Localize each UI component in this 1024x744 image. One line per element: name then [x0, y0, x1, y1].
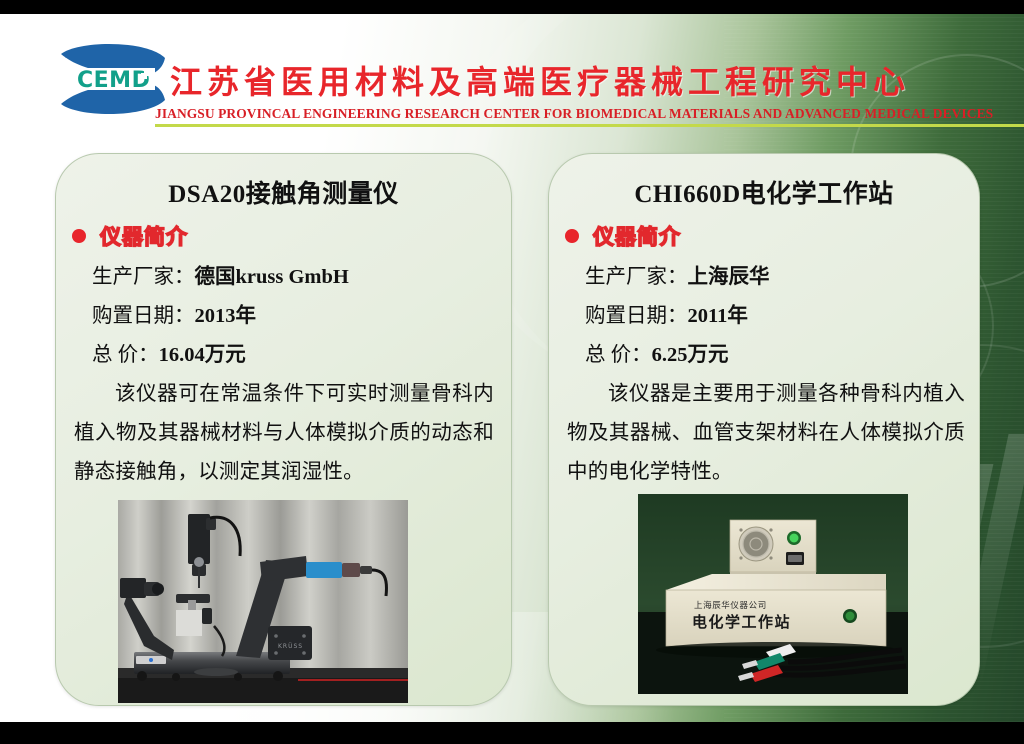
card-title: DSA20接触角测量仪 — [56, 174, 511, 210]
svg-text:电化学工作站: 电化学工作站 — [692, 613, 791, 631]
spec-value: 2011年 — [688, 305, 748, 327]
instrument-card-chi660d: CHI660D电化学工作站 仪器简介 生产厂家：上海辰华 购置日期：2011年 … — [548, 153, 980, 706]
spec-value: 上海辰华 — [688, 266, 770, 288]
section-heading-label: 仪器简介 — [593, 221, 681, 251]
brand-title-chinese: 江苏省医用材料及高端医疗器械工程研究中心 — [170, 62, 1020, 102]
slide-canvas: CEMD 江苏省医用材料及高端医疗器械工程研究中心 JIANGSU PROVIN… — [0, 14, 1024, 722]
card-title: CHI660D电化学工作站 — [549, 174, 979, 210]
spec-value: 德国kruss GmbH — [195, 266, 349, 288]
svg-text:上海辰华仪器公司: 上海辰华仪器公司 — [694, 600, 767, 611]
spec-label: 总 价： — [585, 344, 652, 366]
letterbox-bottom-bar — [0, 722, 1024, 744]
bullet-dot-icon — [72, 229, 86, 243]
chi660d-electrochemical-workstation-photo: 上海辰华仪器公司 电化学工作站 — [638, 494, 908, 694]
spec-label: 生产厂家： — [585, 266, 688, 288]
spec-row-manufacturer: 生产厂家：德国kruss GmbH — [92, 258, 502, 297]
svg-text:KRÜSS: KRÜSS — [278, 643, 303, 650]
spec-row-total-price: 总 价：16.04万元 — [92, 336, 502, 375]
section-heading-label: 仪器简介 — [100, 221, 188, 251]
card-description: 该仪器可在常温条件下可实时测量骨科内植入物及其器械材料与人体模拟介质的动态和静态… — [74, 375, 494, 492]
section-heading-row: 仪器简介 — [72, 221, 188, 251]
spec-list: 生产厂家：上海辰华 购置日期：2011年 总 价：6.25万元 — [585, 258, 972, 375]
spec-value: 16.04万元 — [159, 344, 246, 366]
spec-label: 生产厂家： — [92, 266, 195, 288]
slide: CEMD 江苏省医用材料及高端医疗器械工程研究中心 JIANGSU PROVIN… — [0, 0, 1024, 744]
dsa20-contact-angle-meter-photo: KRÜSS — [118, 500, 408, 703]
instrument-card-dsa20: DSA20接触角测量仪 仪器简介 生产厂家：德国kruss GmbH 购置日期：… — [55, 153, 512, 706]
spec-label: 总 价： — [92, 344, 159, 366]
letterbox-top-bar — [0, 0, 1024, 14]
bullet-dot-icon — [565, 229, 579, 243]
spec-list: 生产厂家：德国kruss GmbH 购置日期：2013年 总 价：16.04万元 — [92, 258, 502, 375]
spec-row-purchase-date: 购置日期：2011年 — [585, 297, 972, 336]
spec-row-total-price: 总 价：6.25万元 — [585, 336, 972, 375]
section-heading-row: 仪器简介 — [565, 221, 681, 251]
spec-row-purchase-date: 购置日期：2013年 — [92, 297, 502, 336]
spec-value: 2013年 — [195, 305, 257, 327]
spec-row-manufacturer: 生产厂家：上海辰华 — [585, 258, 972, 297]
header-divider-rule — [155, 124, 1024, 127]
cemd-logo-icon: CEMD — [57, 40, 169, 118]
spec-value: 6.25万元 — [652, 344, 729, 366]
brand-title-english: JIANGSU PROVINCAL ENGINEERING RESEARCH C… — [155, 106, 1021, 122]
spec-label: 购置日期： — [92, 305, 195, 327]
card-description: 该仪器是主要用于测量各种骨科内植入物及其器械、血管支架材料在人体模拟介质中的电化… — [567, 375, 965, 492]
page-header: CEMD 江苏省医用材料及高端医疗器械工程研究中心 JIANGSU PROVIN… — [0, 14, 1024, 126]
svg-text:CEMD: CEMD — [77, 68, 150, 93]
spec-label: 购置日期： — [585, 305, 688, 327]
